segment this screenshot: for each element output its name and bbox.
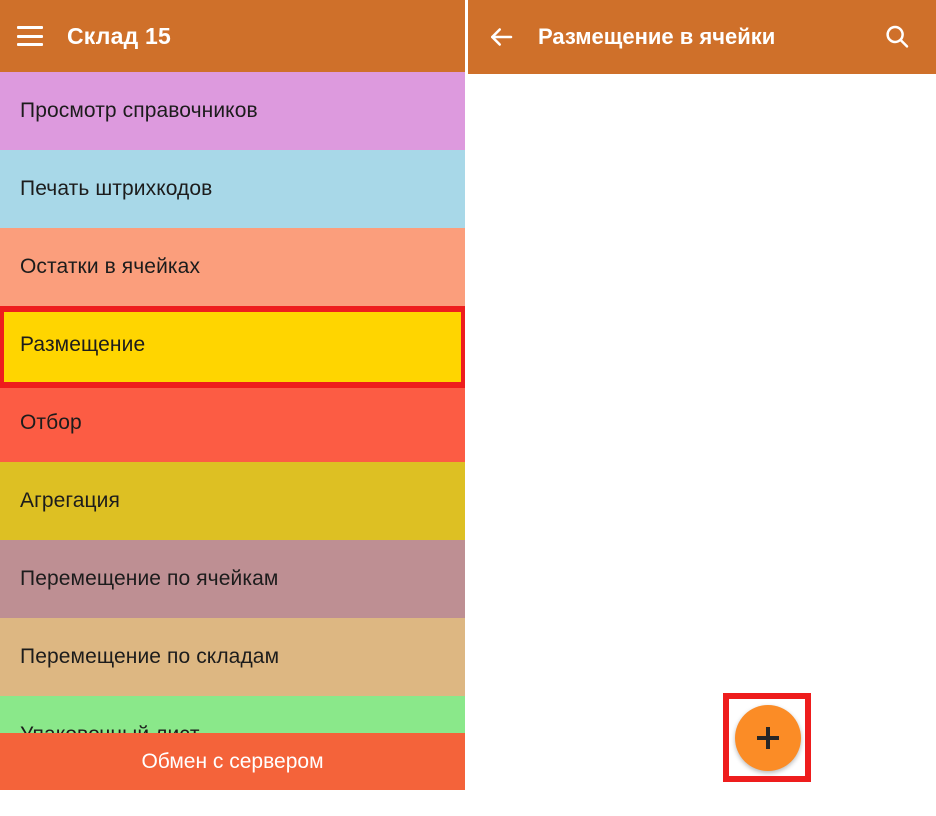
plus-icon — [757, 727, 779, 749]
back-arrow-icon[interactable] — [486, 22, 516, 52]
menu-item-label: Размещение — [20, 333, 145, 357]
menu-item[interactable]: Остатки в ячейках — [0, 228, 465, 306]
hamburger-bar — [17, 26, 43, 29]
menu-item-label: Отбор — [20, 411, 82, 435]
menu-item-label: Перемещение по ячейкам — [20, 567, 278, 591]
left-appbar: Склад 15 — [0, 0, 465, 72]
screen-title: Размещение в ячейки — [534, 24, 882, 50]
menu-item[interactable]: Размещение — [0, 306, 465, 384]
menu-item[interactable]: Отбор — [0, 384, 465, 462]
menu-item-label: Печать штрихкодов — [20, 177, 212, 201]
menu-item[interactable]: Просмотр справочников — [0, 72, 465, 150]
document-list-empty-area — [468, 74, 936, 790]
menu-item-label: Просмотр справочников — [20, 99, 258, 123]
menu-item[interactable]: Агрегация — [0, 462, 465, 540]
sync-with-server-label: Обмен с сервером — [141, 750, 323, 774]
main-menu-list: Просмотр справочниковПечать штрихкодовОс… — [0, 72, 465, 790]
sync-with-server-button[interactable]: Обмен с сервером — [0, 733, 465, 790]
hamburger-bar — [17, 35, 43, 38]
left-panel: Склад 15 Просмотр справочниковПечать штр… — [0, 0, 465, 790]
screen: Склад 15 Просмотр справочниковПечать штр… — [0, 0, 936, 816]
hamburger-bar — [17, 43, 43, 46]
menu-item[interactable]: Перемещение по складам — [0, 618, 465, 696]
right-panel: Размещение в ячейки — [468, 0, 936, 790]
menu-item[interactable]: Перемещение по ячейкам — [0, 540, 465, 618]
search-icon[interactable] — [882, 22, 912, 52]
menu-item-label: Перемещение по складам — [20, 645, 279, 669]
hamburger-icon[interactable] — [17, 26, 43, 46]
right-appbar: Размещение в ячейки — [468, 0, 936, 74]
menu-item[interactable]: Печать штрихкодов — [0, 150, 465, 228]
add-document-fab[interactable] — [735, 705, 801, 771]
menu-item-label: Остатки в ячейках — [20, 255, 200, 279]
app-title: Склад 15 — [67, 23, 171, 50]
menu-item-label: Агрегация — [20, 489, 120, 513]
